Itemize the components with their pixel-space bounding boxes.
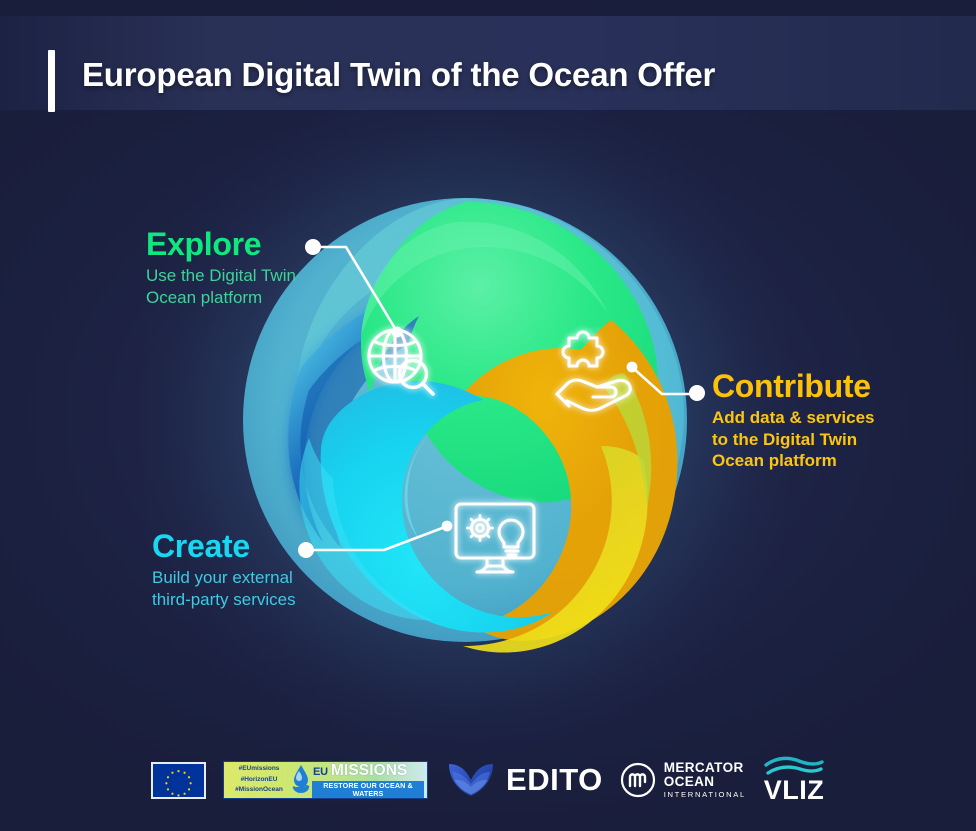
- edito-logo: EDITO: [445, 758, 603, 802]
- callout-create-headline: Create: [152, 530, 296, 564]
- edito-mark-icon: [445, 758, 497, 802]
- header-accent-bar: [48, 50, 55, 112]
- callout-contribute-headline: Contribute: [712, 370, 875, 404]
- callout-contribute-sub-line-2: to the Digital Twin: [712, 429, 875, 451]
- water-drop-icon: [290, 763, 312, 797]
- page-title: European Digital Twin of the Ocean Offer: [82, 56, 715, 94]
- mercator-line-1: MERCATOR: [664, 761, 746, 775]
- callout-create: Create Build your external third-party s…: [152, 530, 296, 610]
- callout-explore-headline: Explore: [146, 228, 296, 262]
- eu-missions-tag-1: #EUmissions: [228, 764, 290, 775]
- mercator-line-2: OCEAN: [664, 775, 746, 789]
- eu-missions-logo: #EUmissions #HorizonEU #MissionOcean: [223, 761, 428, 799]
- vliz-wordmark: VLIZ: [764, 777, 825, 804]
- callout-contribute: Contribute Add data & services to the Di…: [712, 370, 875, 472]
- edito-wordmark: EDITO: [506, 762, 603, 798]
- footer-logo-strip: #EUmissions #HorizonEU #MissionOcean: [0, 739, 976, 831]
- callout-explore-sub-line-2: Ocean platform: [146, 287, 296, 309]
- callout-explore-sub-line-1: Use the Digital Twin: [146, 265, 296, 287]
- eu-missions-strapline: RESTORE OUR OCEAN & WATERS: [312, 781, 424, 798]
- infographic-page: European Digital Twin of the Ocean Offer: [0, 0, 976, 831]
- eu-missions-eu-text: EU: [313, 766, 328, 778]
- mercator-mark-icon: [620, 762, 656, 798]
- eu-missions-tag-2: #HorizonEU: [228, 775, 290, 786]
- mercator-ocean-logo: MERCATOR OCEAN INTERNATIONAL: [620, 761, 746, 799]
- callout-create-sub-line-2: third-party services: [152, 589, 296, 611]
- eu-flag-logo: [151, 762, 206, 799]
- callout-contribute-sub-line-3: Ocean platform: [712, 450, 875, 472]
- callout-contribute-sub-line-1: Add data & services: [712, 407, 875, 429]
- mercator-line-3: INTERNATIONAL: [664, 791, 746, 799]
- header-band: European Digital Twin of the Ocean Offer: [0, 16, 976, 110]
- callout-create-sub-line-1: Build your external: [152, 567, 296, 589]
- eu-missions-tag-3: #MissionOcean: [228, 785, 290, 796]
- callout-explore: Explore Use the Digital Twin Ocean platf…: [146, 228, 296, 308]
- eu-missions-title-text: MISSIONS: [331, 762, 408, 780]
- eu-missions-tags: #EUmissions #HorizonEU #MissionOcean: [224, 764, 290, 796]
- eu-flag-stars: [153, 764, 204, 797]
- vliz-logo: VLIZ: [763, 756, 825, 804]
- vliz-wave-icon: [763, 756, 825, 776]
